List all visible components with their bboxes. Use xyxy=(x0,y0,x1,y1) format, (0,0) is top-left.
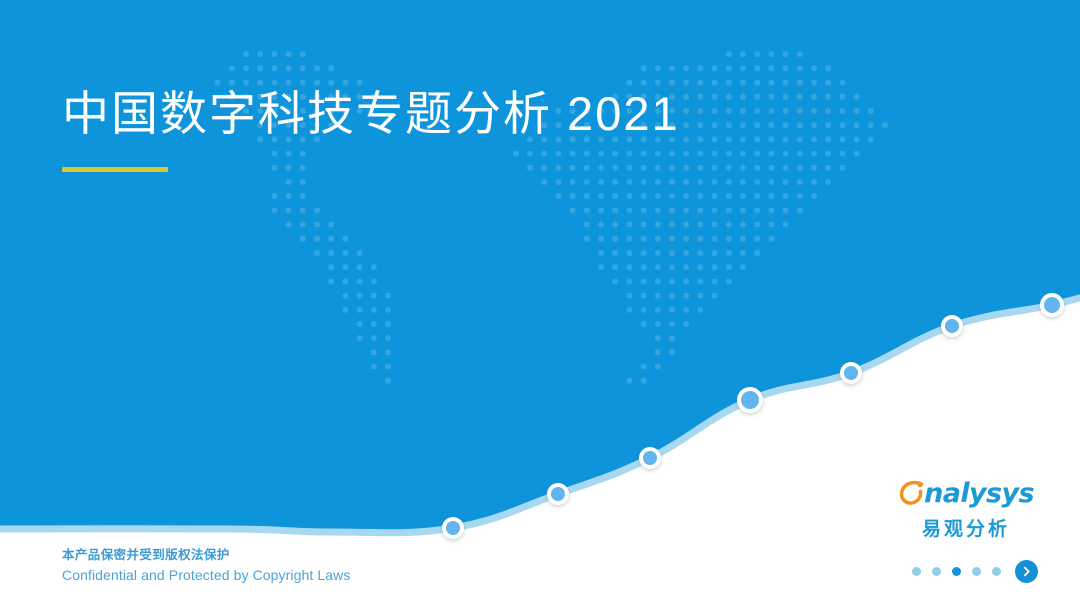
analysys-logo: nalysys 易观分析 xyxy=(896,476,1036,541)
chart-marker-1 xyxy=(442,517,464,539)
pagination-dot-2[interactable] xyxy=(932,567,941,576)
chart-marker-2 xyxy=(547,483,569,505)
logo-wordmark: nalysys xyxy=(896,476,1036,510)
page-title: 中国数字科技专题分析 2021 xyxy=(62,86,962,141)
pagination-dot-1[interactable] xyxy=(912,567,921,576)
presentation-cover-slide: 中国数字科技专题分析 2021 本产品保密并受到版权法保护 Confidenti… xyxy=(0,0,1080,608)
next-slide-button[interactable] xyxy=(1015,560,1038,583)
title-underline-accent xyxy=(62,167,168,172)
pagination-dot-4[interactable] xyxy=(972,567,981,576)
confidential-notice-cn: 本产品保密并受到版权法保护 xyxy=(62,546,350,565)
chart-marker-4 xyxy=(737,387,763,413)
chart-marker-7 xyxy=(1040,293,1064,317)
logo-wordmark-text: nalysys xyxy=(924,480,1034,507)
chevron-right-icon xyxy=(1020,565,1033,578)
pagination-dot-5[interactable] xyxy=(992,567,1001,576)
chart-marker-5 xyxy=(840,362,862,384)
title-block: 中国数字科技专题分析 2021 xyxy=(62,86,962,172)
chart-marker-3 xyxy=(639,447,661,469)
confidential-notice-en: Confidential and Protected by Copyright … xyxy=(62,565,350,587)
pagination-dot-3[interactable] xyxy=(952,567,961,576)
pagination-controls[interactable] xyxy=(912,560,1038,583)
chart-marker-6 xyxy=(941,315,963,337)
logo-chinese-name: 易观分析 xyxy=(896,514,1036,541)
confidential-notice: 本产品保密并受到版权法保护 Confidential and Protected… xyxy=(62,546,350,587)
